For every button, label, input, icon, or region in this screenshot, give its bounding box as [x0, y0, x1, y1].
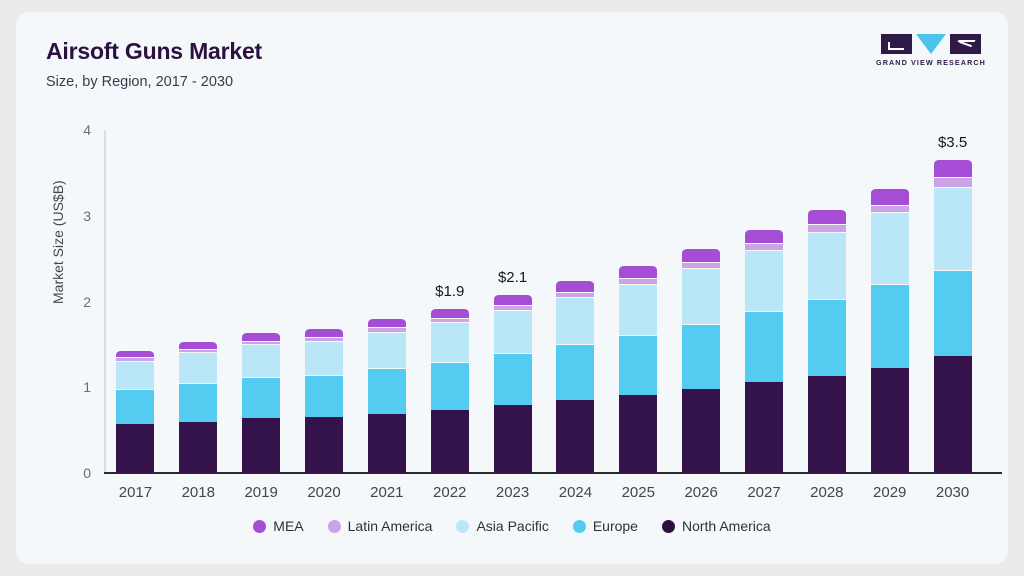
x-axis-tick-label: 2025: [622, 484, 655, 501]
bar-segment-mea[interactable]: [179, 341, 217, 349]
x-axis-tick-label: 2024: [559, 484, 592, 501]
legend-item-europe[interactable]: Europe: [573, 518, 638, 534]
legend-label: Europe: [593, 518, 638, 534]
bar-segment-mea[interactable]: [494, 294, 532, 305]
logo-r-block-icon: [950, 34, 981, 54]
bar-segment-north-america[interactable]: [431, 410, 469, 473]
legend-label: Asia Pacific: [476, 518, 548, 534]
bar-2020[interactable]: [305, 328, 343, 473]
bar-segment-europe[interactable]: [368, 368, 406, 413]
logo-v-triangle-icon: [916, 34, 946, 54]
bar-segment-north-america[interactable]: [934, 356, 972, 473]
x-axis-tick-label: 2022: [433, 484, 466, 501]
legend-item-north-america[interactable]: North America: [662, 518, 771, 534]
bar-segment-europe[interactable]: [934, 270, 972, 357]
bar-segment-asia-pacific[interactable]: [808, 232, 846, 299]
bar-segment-europe[interactable]: [116, 389, 154, 424]
legend-item-mea[interactable]: MEA: [253, 518, 303, 534]
bar-2021[interactable]: [368, 318, 406, 473]
bar-segment-latin-america[interactable]: [808, 224, 846, 232]
x-axis-tick-label: 2021: [370, 484, 403, 501]
bar-segment-north-america[interactable]: [368, 414, 406, 473]
y-axis-tick-label: 2: [83, 294, 91, 310]
bar-segment-europe[interactable]: [242, 377, 280, 418]
plot-area: 01234$1.9$2.1$3.5: [104, 130, 984, 473]
bar-segment-north-america[interactable]: [745, 382, 783, 473]
bar-2023[interactable]: $2.1: [494, 294, 532, 473]
bar-segment-europe[interactable]: [682, 324, 720, 389]
bar-segment-latin-america[interactable]: [871, 205, 909, 213]
bar-segment-asia-pacific[interactable]: [871, 212, 909, 284]
y-axis-tick-label: 1: [83, 379, 91, 395]
bar-segment-mea[interactable]: [116, 350, 154, 358]
bar-segment-north-america[interactable]: [305, 417, 343, 473]
bar-segment-asia-pacific[interactable]: [494, 310, 532, 353]
bar-segment-latin-america[interactable]: [242, 341, 280, 344]
x-axis-tick-label: 2027: [747, 484, 780, 501]
bar-segment-mea[interactable]: [808, 209, 846, 224]
bar-2029[interactable]: [871, 188, 909, 473]
bar-segment-north-america[interactable]: [242, 418, 280, 473]
bar-segment-europe[interactable]: [808, 299, 846, 376]
bar-segment-europe[interactable]: [619, 335, 657, 395]
x-axis-tick-label: 2019: [244, 484, 277, 501]
bar-2022[interactable]: $1.9: [431, 308, 469, 473]
bar-segment-europe[interactable]: [179, 383, 217, 422]
bar-2025[interactable]: [619, 265, 657, 473]
bar-segment-north-america[interactable]: [494, 405, 532, 473]
bar-segment-mea[interactable]: [368, 318, 406, 327]
legend-item-latin-america[interactable]: Latin America: [328, 518, 433, 534]
x-axis-tick-label: 2023: [496, 484, 529, 501]
bar-segment-asia-pacific[interactable]: [116, 361, 154, 389]
bar-segment-latin-america[interactable]: [682, 262, 720, 268]
bar-segment-asia-pacific[interactable]: [368, 332, 406, 369]
bar-segment-europe[interactable]: [871, 284, 909, 368]
bar-segment-mea[interactable]: [556, 280, 594, 292]
chart-legend: MEALatin AmericaAsia PacificEuropeNorth …: [16, 518, 1008, 534]
bar-segment-mea[interactable]: [745, 229, 783, 244]
x-axis-tick-label: 2018: [182, 484, 215, 501]
chart-subtitle: Size, by Region, 2017 - 2030: [46, 74, 233, 90]
bar-segment-mea[interactable]: [305, 328, 343, 337]
y-axis-tick-label: 4: [83, 122, 91, 138]
x-axis-tick-label: 2030: [936, 484, 969, 501]
legend-swatch-icon: [456, 520, 469, 533]
bar-segment-mea[interactable]: [431, 308, 469, 318]
bar-segment-north-america[interactable]: [871, 368, 909, 473]
bar-2030[interactable]: $3.5: [934, 159, 972, 473]
x-axis-tick-label: 2020: [307, 484, 340, 501]
bar-segment-europe[interactable]: [305, 375, 343, 417]
bar-segment-europe[interactable]: [745, 311, 783, 382]
bar-value-label: $2.1: [498, 269, 527, 286]
bar-segment-europe[interactable]: [494, 353, 532, 405]
bar-segment-latin-america[interactable]: [305, 337, 343, 341]
bar-segment-latin-america[interactable]: [368, 327, 406, 331]
bar-segment-north-america[interactable]: [179, 422, 217, 473]
legend-label: North America: [682, 518, 771, 534]
legend-item-asia-pacific[interactable]: Asia Pacific: [456, 518, 548, 534]
bar-segment-north-america[interactable]: [619, 395, 657, 473]
bar-segment-mea[interactable]: [934, 159, 972, 177]
bar-2017[interactable]: [116, 350, 154, 473]
bar-value-label: $1.9: [435, 283, 464, 300]
bar-2018[interactable]: [179, 341, 217, 473]
bar-segment-latin-america[interactable]: [745, 243, 783, 250]
chart-card: Airsoft Guns Market Size, by Region, 201…: [16, 12, 1008, 564]
bar-2028[interactable]: [808, 209, 846, 473]
x-axis-tick-label: 2017: [119, 484, 152, 501]
legend-label: Latin America: [348, 518, 433, 534]
bar-segment-north-america[interactable]: [808, 376, 846, 473]
y-axis-title: Market Size (US$B): [50, 180, 66, 304]
bar-segment-north-america[interactable]: [556, 400, 594, 473]
bar-segment-europe[interactable]: [431, 362, 469, 410]
legend-swatch-icon: [573, 520, 586, 533]
bar-segment-latin-america[interactable]: [619, 278, 657, 284]
bar-segment-europe[interactable]: [556, 344, 594, 400]
bar-value-label: $3.5: [938, 134, 967, 151]
bar-segment-mea[interactable]: [871, 188, 909, 204]
y-axis-tick-label: 0: [83, 465, 91, 481]
logo-wordmark: GRAND VIEW RESEARCH: [876, 58, 986, 67]
bar-segment-asia-pacific[interactable]: [682, 268, 720, 324]
grand-view-research-logo: GRAND VIEW RESEARCH: [876, 34, 986, 68]
x-axis-tick-label: 2028: [810, 484, 843, 501]
bar-segment-latin-america[interactable]: [431, 318, 469, 322]
bar-2019[interactable]: [242, 332, 280, 473]
bar-segment-latin-america[interactable]: [934, 177, 972, 186]
bar-segment-latin-america[interactable]: [556, 292, 594, 297]
y-axis-tick-label: 3: [83, 208, 91, 224]
bar-segment-mea[interactable]: [619, 265, 657, 278]
bar-segment-north-america[interactable]: [116, 424, 154, 473]
bar-2027[interactable]: [745, 229, 783, 473]
legend-label: MEA: [273, 518, 303, 534]
bar-segment-asia-pacific[interactable]: [431, 322, 469, 361]
bar-segment-mea[interactable]: [242, 332, 280, 341]
legend-swatch-icon: [328, 520, 341, 533]
logo-g-block-icon: [881, 34, 912, 54]
bar-segment-north-america[interactable]: [682, 389, 720, 473]
bar-segment-latin-america[interactable]: [179, 349, 217, 352]
bar-2024[interactable]: [556, 280, 594, 473]
bar-segment-latin-america[interactable]: [116, 357, 154, 360]
bar-segment-asia-pacific[interactable]: [179, 352, 217, 383]
x-axis-tick-label: 2026: [684, 484, 717, 501]
bar-segment-asia-pacific[interactable]: [745, 250, 783, 311]
bar-segment-asia-pacific[interactable]: [305, 341, 343, 375]
bar-segment-asia-pacific[interactable]: [934, 187, 972, 270]
bar-segment-latin-america[interactable]: [494, 305, 532, 310]
bar-2026[interactable]: [682, 248, 720, 473]
x-axis-tick-label: 2029: [873, 484, 906, 501]
bar-segment-asia-pacific[interactable]: [619, 284, 657, 335]
bar-segment-asia-pacific[interactable]: [556, 297, 594, 344]
legend-swatch-icon: [662, 520, 675, 533]
logo-marks: [876, 34, 986, 54]
bar-segment-mea[interactable]: [682, 248, 720, 262]
page-title: Airsoft Guns Market: [46, 38, 262, 65]
legend-swatch-icon: [253, 520, 266, 533]
bar-segment-asia-pacific[interactable]: [242, 344, 280, 377]
